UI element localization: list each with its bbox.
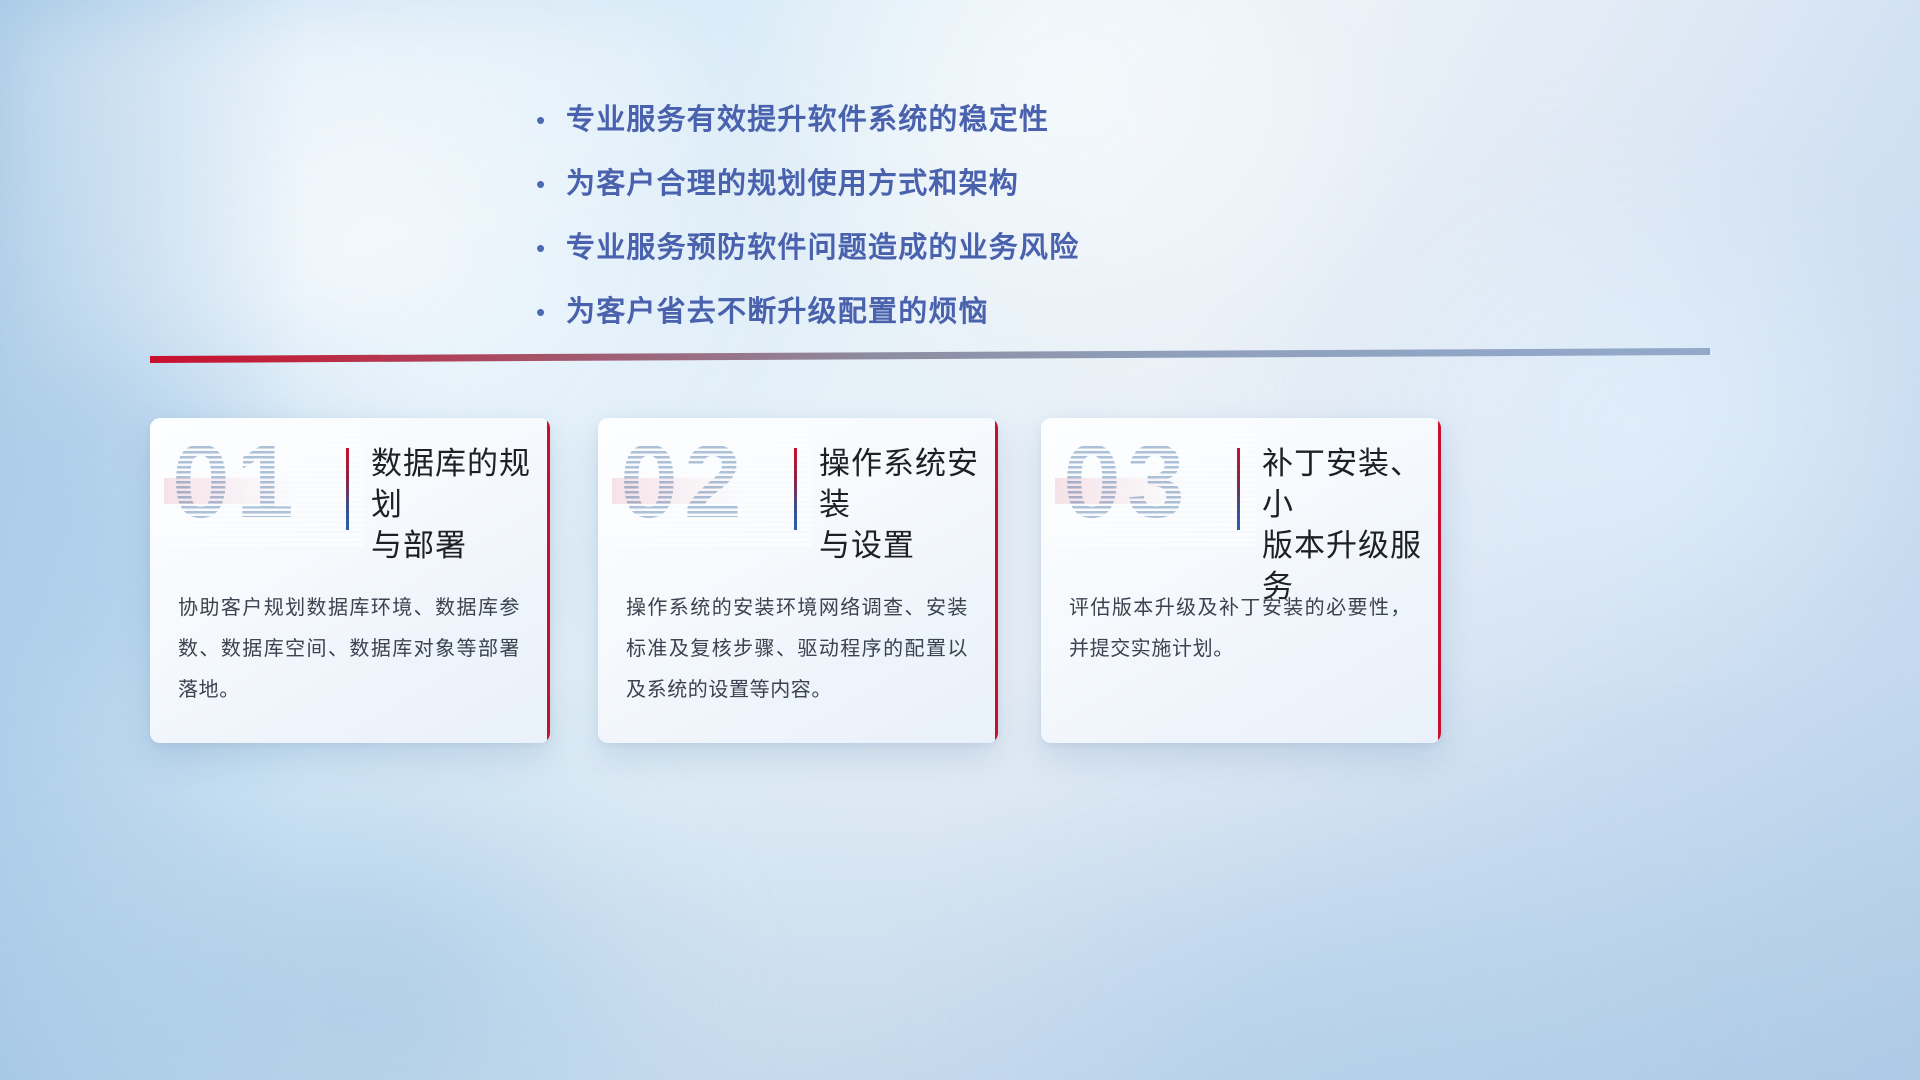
title-accent-rule xyxy=(346,448,349,530)
card-title-block: 操作系统安装 与设置 xyxy=(794,444,998,567)
card-body-text: 操作系统的安装环境网络调查、安装标准及复核步骤、驱动程序的配置以及系统的设置等内… xyxy=(626,588,968,711)
card-title: 操作系统安装 与设置 xyxy=(819,444,998,567)
list-item: • 专业服务有效提升软件系统的稳定性 xyxy=(536,96,1256,160)
card-body-text: 协助客户规划数据库环境、数据库参数、数据库空间、数据库对象等部署落地。 xyxy=(178,588,520,711)
bullet-text: 为客户合理的规划使用方式和架构 xyxy=(566,160,1019,202)
bullet-dot-icon: • xyxy=(536,235,566,261)
card-01[interactable]: 01 数据库的规划 与部署 协助客户规划数据库环境、数据库参数、数据库空间、数据… xyxy=(150,418,550,743)
card-body-text: 评估版本升级及补丁安装的必要性，并提交实施计划。 xyxy=(1069,588,1411,670)
card-number-watermark: 03 xyxy=(1063,430,1191,534)
bullet-text: 专业服务有效提升软件系统的稳定性 xyxy=(566,96,1049,138)
card-number-watermark: 02 xyxy=(620,430,748,534)
list-item: • 为客户合理的规划使用方式和架构 xyxy=(536,160,1256,224)
bullet-list: • 专业服务有效提升软件系统的稳定性 • 为客户合理的规划使用方式和架构 • 专… xyxy=(536,96,1256,352)
card-02[interactable]: 02 操作系统安装 与设置 操作系统的安装环境网络调查、安装标准及复核步骤、驱动… xyxy=(598,418,998,743)
card-title-block: 数据库的规划 与部署 xyxy=(346,444,550,567)
divider-shape-icon xyxy=(150,344,1710,366)
card-header: 01 数据库的规划 与部署 xyxy=(150,418,550,566)
list-item: • 为客户省去不断升级配置的烦恼 xyxy=(536,288,1256,352)
card-title: 数据库的规划 与部署 xyxy=(371,444,550,567)
list-item: • 专业服务预防软件问题造成的业务风险 xyxy=(536,224,1256,288)
card-03[interactable]: 03 补丁安装、小 版本升级服务 评估版本升级及补丁安装的必要性，并提交实施计划… xyxy=(1041,418,1441,743)
bullet-text: 专业服务预防软件问题造成的业务风险 xyxy=(566,224,1079,266)
card-title: 补丁安装、小 版本升级服务 xyxy=(1262,444,1441,608)
slide-canvas: • 专业服务有效提升软件系统的稳定性 • 为客户合理的规划使用方式和架构 • 专… xyxy=(0,0,1920,1080)
title-accent-rule xyxy=(1237,448,1240,530)
card-title-block: 补丁安装、小 版本升级服务 xyxy=(1237,444,1441,608)
bullet-dot-icon: • xyxy=(536,299,566,325)
bullet-text: 为客户省去不断升级配置的烦恼 xyxy=(566,288,989,330)
card-header: 03 补丁安装、小 版本升级服务 xyxy=(1041,418,1441,566)
card-row: 01 数据库的规划 与部署 协助客户规划数据库环境、数据库参数、数据库空间、数据… xyxy=(150,418,1770,748)
bullet-dot-icon: • xyxy=(536,171,566,197)
bullet-dot-icon: • xyxy=(536,107,566,133)
card-header: 02 操作系统安装 与设置 xyxy=(598,418,998,566)
card-number-watermark: 01 xyxy=(172,430,300,534)
title-accent-rule xyxy=(794,448,797,530)
section-divider xyxy=(150,344,1710,366)
